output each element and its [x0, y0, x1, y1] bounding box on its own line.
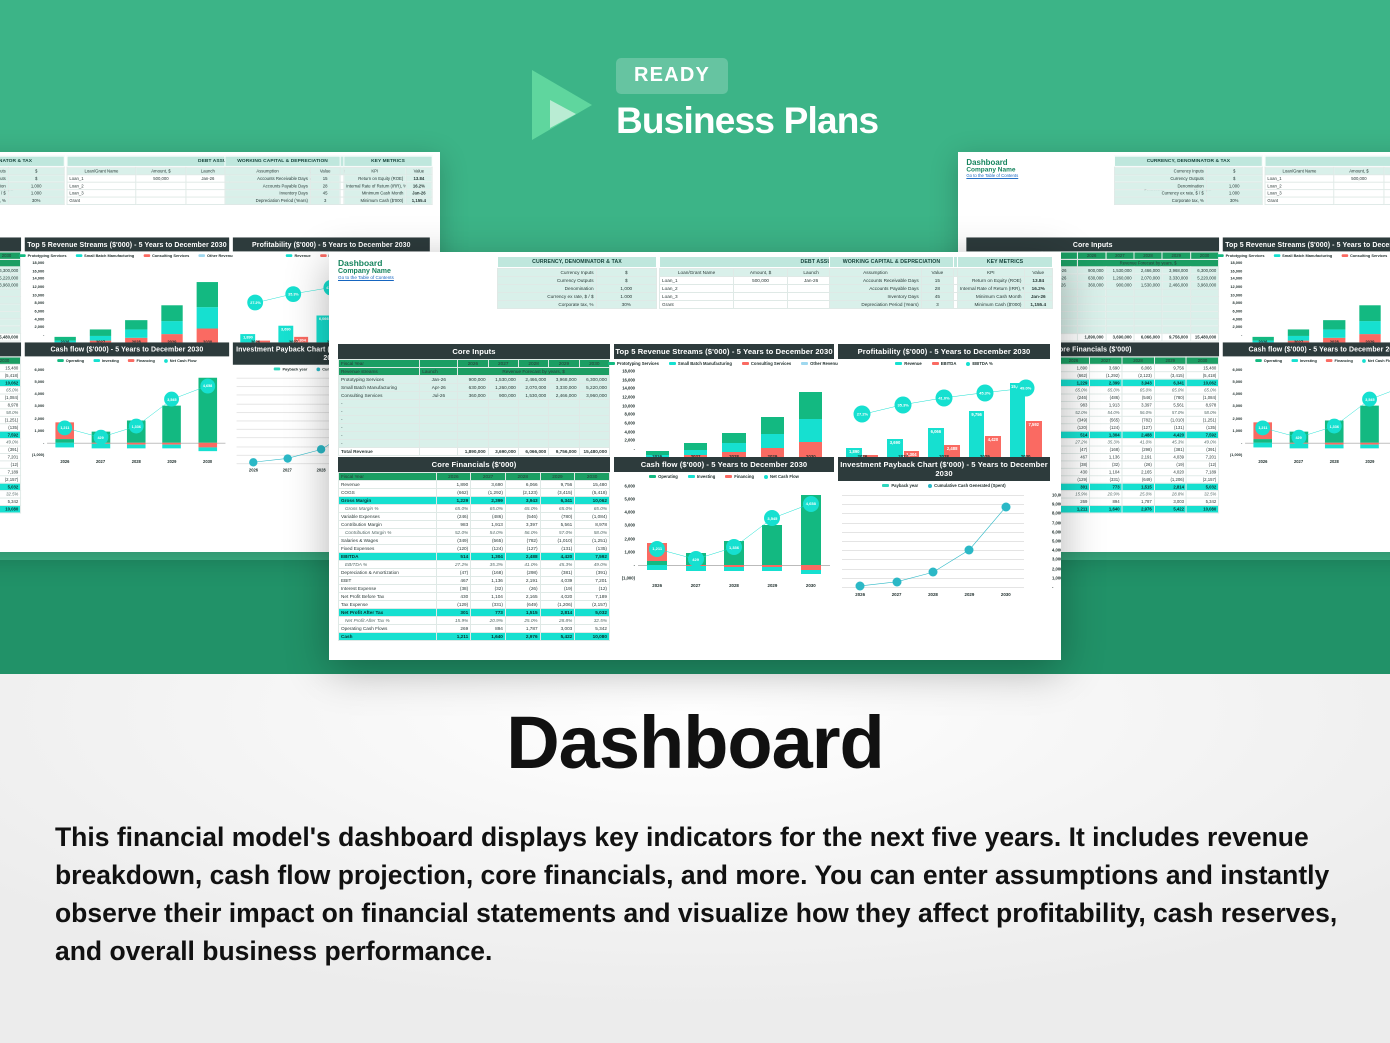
core-financials-row: Gross Margin1,2292,3993,9436,34110,062 [339, 497, 610, 505]
km-header-row: KPIValue [958, 269, 1053, 277]
core-financials-row: Fixed Expenses(120)(124)(127)(131)(135) [0, 424, 21, 431]
sheet-title: Dashboard [966, 158, 1018, 167]
launch-label: Launch [420, 368, 458, 376]
stream-value [0, 311, 21, 318]
x-tick-label: 2027 [892, 592, 902, 597]
financial-row-label: EBITDA % [339, 561, 437, 569]
wc-row: Inventory Days45 [830, 293, 954, 301]
financial-row-label: Net Profit Before Tax [339, 593, 437, 601]
stream-name: - [339, 432, 420, 440]
legend-label: Investing [102, 358, 119, 363]
y-tick: 5,000 [1233, 379, 1243, 384]
cash-flow-panel: Cash flow ($'000) - 5 Years to December … [1223, 342, 1390, 475]
stream-value [579, 400, 609, 408]
core-financials-row: Net Profit After Tax3017731,5152,8145,03… [339, 609, 610, 617]
stream-value: 5,220,000 [579, 384, 609, 392]
core-financials-row: Depreciation & Amortization(47)(168)(298… [339, 569, 610, 577]
core-inputs-row: Consulting ServicesJul-26360,000900,0001… [0, 282, 21, 289]
financial-row-value: (5,418) [575, 489, 610, 497]
financial-row-value: 3,003 [1154, 498, 1186, 505]
financial-row-value: 430 [1057, 468, 1089, 475]
financial-row-value: 8,978 [0, 401, 21, 408]
core-financials-row: Depreciation & Amortization(47)(168)(298… [0, 446, 21, 453]
financial-row-label: Net Profit After Tax [339, 609, 437, 617]
legend-swatch [76, 254, 83, 257]
stream-value: 1,260,000 [488, 384, 518, 392]
currency-row: Denomination1,000 [1115, 182, 1263, 189]
financial-row-value: (120) [436, 545, 471, 553]
financial-row-value: (19) [540, 585, 575, 593]
financial-row-value: 7,201 [575, 577, 610, 585]
core-financials-row: Salaries & Wages(349)(565)(782)(1,010)(1… [0, 416, 21, 423]
legend-item: Investing [1291, 358, 1316, 363]
stream-value [1134, 319, 1162, 326]
financial-row-value: 10,062 [575, 497, 610, 505]
y-tick: 14,000 [622, 386, 635, 391]
financial-row-value: 3,943 [505, 497, 540, 505]
stacked-bar [799, 392, 822, 459]
legend-swatch [144, 254, 151, 257]
year-header: 2027 [1106, 252, 1134, 259]
legend-swatch [320, 254, 327, 257]
financial-row-value: (26) [505, 585, 540, 593]
year-header: 2030 [0, 252, 21, 259]
currency-row-value: 30% [1206, 197, 1262, 204]
y-tick: (1,000) [622, 576, 635, 581]
ebitda-percent-line [842, 367, 1046, 459]
financial-row-value: 6,066 [1122, 364, 1154, 371]
wc-row: Accounts Receivable Days15 [830, 277, 954, 285]
net-cash-flow-bubble: 4,658 [803, 496, 819, 512]
financial-row-label: Contribution Margin [339, 521, 437, 529]
currency-row: Currency Outputs$ [498, 277, 657, 285]
stream-value [458, 416, 488, 424]
debt-col-header: Loan/Grant Name [67, 167, 136, 174]
stream-launch [420, 440, 458, 448]
financial-row-value: 3,690 [471, 481, 506, 489]
financial-row-value: (2,123) [505, 489, 540, 497]
data-table: Fiscal Year20262027202820292030Revenue s… [0, 251, 21, 341]
y-tick: - [43, 333, 44, 338]
km-row: Internal Rate of Return (IRR), %16.2% [344, 182, 432, 189]
financial-row-value: (1,084) [1186, 394, 1218, 401]
x-tick-label: 2026 [60, 459, 69, 464]
core-financials-row: Cash1,2111,6402,9765,42210,080 [0, 505, 21, 512]
stream-launch [420, 400, 458, 408]
financial-row-value: 20.9% [1090, 491, 1122, 498]
stream-value: 900,000 [1078, 267, 1106, 274]
wc-row: Inventory Days45 [225, 190, 340, 197]
y-tick: 16,000 [32, 268, 44, 273]
stream-value [1106, 311, 1134, 318]
debt-row: Grant [1265, 197, 1390, 204]
y-tick: 12,000 [32, 284, 44, 289]
debt-panel-title: DEBT ASSUMPTIONS [1265, 156, 1390, 167]
financial-row-value: 10,080 [575, 633, 610, 641]
debt-cell: Loan_1 [67, 175, 136, 182]
legend-item: Consulting Services [742, 361, 791, 366]
table-cell [420, 360, 458, 368]
financial-row-value: (120) [1057, 424, 1089, 431]
financial-row-value: 65.0% [0, 387, 21, 394]
stream-value: 360,000 [458, 392, 488, 400]
year-header: 2026 [1078, 252, 1106, 259]
data-table: Currency Inputs$Currency Outputs$Denomin… [0, 167, 65, 205]
plot-area: 1,8905143,6901,3046,0662,4889,7564,42015… [842, 367, 1046, 469]
core-financials-row: Interest Expense(38)(32)(26)(19)(12) [339, 585, 610, 593]
bar-segment [197, 282, 218, 307]
core-inputs-total-row: Total Revenue1,890,0003,690,0006,066,000… [0, 334, 21, 341]
net-cash-flow-bubble: 1,336 [129, 419, 144, 434]
investment-payback-legend: Payback yearCumulative Cash Generated (S… [838, 481, 1050, 489]
financial-row-value: 301 [1057, 483, 1089, 490]
x-tick-label: 2029 [768, 583, 778, 588]
revenue-streams-legend: Prototyping ServicesSmall Batch Manufact… [614, 359, 834, 367]
stream-value [458, 440, 488, 448]
financial-row-value: 5,032 [0, 483, 21, 490]
key-metrics-title: KEY METRICS [957, 256, 1053, 268]
legend-swatch [764, 475, 768, 479]
financial-row-value: 27.2% [1057, 439, 1089, 446]
y-tick: - [634, 562, 635, 567]
core-financials-row: COGS(662)(1,292)(2,123)(3,415)(5,418) [339, 489, 610, 497]
financial-row-value: 1,211 [1057, 505, 1089, 512]
stream-value [488, 408, 518, 416]
legend-swatch [649, 475, 656, 478]
financial-row-value: (124) [471, 545, 506, 553]
financial-row-value: 41.0% [505, 561, 540, 569]
play-triangle-logo-icon [528, 66, 598, 144]
net-cash-flow-bubble: 1,211 [649, 541, 665, 557]
financial-row-value: 28.8% [1154, 491, 1186, 498]
toc-link[interactable]: Go to the Table of Contents [338, 275, 394, 280]
y-tick: - [1052, 585, 1053, 590]
year-header: 2029 [1154, 357, 1186, 364]
financial-row-value: 54.0% [471, 529, 506, 537]
y-axis: -2,0004,0006,0008,00010,00012,00014,0001… [614, 367, 636, 469]
x-tick-label: 2030 [203, 459, 212, 464]
financial-row-value: (1,084) [0, 394, 21, 401]
core-financials-row: Gross Margin %65.0%65.0%65.0%65.0%65.0% [339, 505, 610, 513]
x-tick-label: 2027 [96, 459, 105, 464]
y-tick: 6,000 [625, 421, 635, 426]
financial-row-value: (662) [1057, 372, 1089, 379]
legend-label: Consulting Services [1350, 253, 1387, 258]
stream-value: 1,530,000 [488, 376, 518, 384]
financial-row-value: 54.0% [1090, 409, 1122, 416]
core-financials-row: EBIT4671,1362,1914,0397,201 [339, 577, 610, 585]
financial-row-value: (780) [540, 513, 575, 521]
legend-label: Operating [658, 474, 678, 479]
data-point-marker [856, 581, 865, 590]
y-tick: 14,000 [32, 276, 44, 281]
bar-segment [1324, 320, 1345, 330]
financial-row-value: 5,342 [575, 625, 610, 633]
core-financials-row: Gross Margin %65.0%65.0%65.0%65.0%65.0% [0, 387, 21, 394]
financial-row-value: (246) [1057, 394, 1089, 401]
currency-row: Currency Outputs$ [1115, 175, 1263, 182]
data-table: Loan/Grant NameAmount, $LaunchTerm, Mont… [1265, 167, 1390, 205]
revenue-streams-panel: Top 5 Revenue Streams ($'000) - 5 Years … [1223, 237, 1390, 353]
y-tick: 8,000 [1233, 300, 1243, 305]
x-tick-label: 2028 [729, 583, 739, 588]
legend-swatch [742, 362, 749, 365]
stream-value: 3,968,000 [1162, 267, 1190, 274]
km-row: Return on Equity (ROE)13.84 [344, 175, 432, 182]
stacked-bar [197, 282, 218, 344]
legend-swatch [1291, 359, 1298, 362]
financial-row-value: 894 [471, 625, 506, 633]
km-kpi-label: Minimum Cash ($'000) [958, 301, 1025, 309]
core-financials-year-row: Fiscal Year20262027202820292030 [339, 473, 610, 481]
financial-row-value: 3,690 [1090, 364, 1122, 371]
km-row: Minimum Cash ($'000)1,155.4 [344, 197, 432, 204]
investment-payback-plot: 20262027202820292030-1,0002,0003,0004,00… [838, 489, 1050, 609]
y-tick: - [1241, 333, 1242, 338]
legend-swatch [966, 362, 970, 366]
debt-cell [136, 190, 186, 197]
net-cash-flow-bubble: 1,336 [1327, 419, 1342, 434]
currency-row-label: Currency Inputs [0, 167, 8, 174]
core-financials-row: EBIT4671,1362,1914,0397,201 [0, 453, 21, 460]
revenue-streams-legend: Prototyping ServicesSmall Batch Manufact… [1223, 251, 1390, 258]
stream-value: 2,466,000 [518, 376, 548, 384]
currency-row-value: 1,000 [8, 182, 64, 189]
financial-row-value: (649) [505, 601, 540, 609]
forecast-label: Revenue Forecast by years, $ [1078, 259, 1219, 266]
km-row: Minimum Cash ($'000)1,155.4 [958, 301, 1053, 309]
stream-value [458, 408, 488, 416]
km-col-header: KPI [344, 167, 406, 174]
stream-value [488, 416, 518, 424]
core-inputs-year-row: Fiscal Year20262027202820292030 [339, 360, 610, 368]
core-financials-row: EBITDA5141,3042,4884,4207,592 [339, 553, 610, 561]
financial-row-value: 269 [1057, 498, 1089, 505]
debt-cell [136, 182, 186, 189]
stream-value: 2,466,000 [1134, 267, 1162, 274]
key-metrics-panel: KEY METRICSKPIValueReturn on Equity (ROE… [343, 156, 432, 205]
y-axis: (1,000)-1,0002,0003,0004,0005,0006,000 [25, 364, 45, 475]
cash-flow-plot: (1,000)-1,0002,0003,0004,0005,0006,0001,… [25, 364, 229, 475]
debt-cell [734, 293, 788, 301]
legend-item: Small Batch Manufacturing [1274, 253, 1333, 258]
stream-value [0, 304, 21, 311]
legend-label: EBITDA % [972, 361, 992, 366]
toc-link[interactable]: Go to the Table of Contents [966, 173, 1018, 178]
financial-row-value: (649) [1122, 476, 1154, 483]
financial-row-value: (1,206) [540, 601, 575, 609]
core-inputs-row: - [339, 432, 610, 440]
financial-row-label: Cash [339, 633, 437, 641]
financial-row-value: 7,592 [1186, 431, 1218, 438]
stream-value [488, 400, 518, 408]
data-point-marker [249, 458, 257, 466]
legend-swatch [1217, 254, 1224, 257]
financial-row-value: 894 [1090, 498, 1122, 505]
core-inputs-row: Small Batch ManufacturingApr-26630,0001,… [339, 384, 610, 392]
financial-row-value: (391) [575, 569, 610, 577]
currency-row-label: Corporate tax, % [498, 301, 597, 309]
cash-flow-title: Cash flow ($'000) - 5 Years to December … [1223, 342, 1390, 356]
km-row: Minimum Cash MonthJan-26 [344, 190, 432, 197]
legend-swatch [669, 362, 676, 365]
currency-row-label: Currency Outputs [1115, 175, 1207, 182]
financial-row-value: 983 [1057, 401, 1089, 408]
y-tick: 7,000 [1052, 520, 1061, 525]
y-tick: 4,000 [625, 429, 635, 434]
financial-row-value: 1,304 [1090, 431, 1122, 438]
wc-row: Accounts Payable Days28 [225, 182, 340, 189]
legend-item: Financing [128, 358, 155, 363]
financial-row-value: 4,420 [1154, 431, 1186, 438]
stream-value: 3,330,000 [1162, 274, 1190, 281]
stacked-bar [761, 417, 784, 459]
debt-col-header: Launch [186, 167, 230, 174]
financial-row-value: (486) [1090, 394, 1122, 401]
currency-row: Corporate tax, %30% [498, 301, 657, 309]
core-financials-title: Core Financials ($'000) [338, 457, 610, 472]
stream-launch [420, 424, 458, 432]
sheet-title: Dashboard [338, 258, 394, 268]
legend-swatch [1362, 359, 1366, 363]
core-financials-row: Operating Cash Flows2698941,7873,0035,34… [339, 625, 610, 633]
stream-value [1078, 326, 1106, 333]
legend-label: Payback year [282, 367, 307, 372]
stream-value [1106, 296, 1134, 303]
km-row: Return on Equity (ROE)13.84 [958, 277, 1053, 285]
stream-value [1078, 311, 1106, 318]
cash-flow-plot: (1,000)-1,0002,0003,0004,0005,0006,0001,… [1223, 364, 1390, 475]
financial-row-value: 35.3% [471, 561, 506, 569]
currency-row-label: Currency Outputs [498, 277, 597, 285]
stream-value: 900,000 [1106, 282, 1134, 289]
km-kpi-label: Internal Rate of Return (IRR), % [344, 182, 406, 189]
y-tick: 2,000 [35, 325, 45, 330]
legend-label: EBITDA [941, 361, 957, 366]
financial-row-value: 2,976 [505, 633, 540, 641]
total-value: 1,890,000 [458, 448, 488, 456]
bar-segment [1359, 321, 1380, 334]
core-financials-row: Revenue1,8903,6906,0669,75615,480 [0, 364, 21, 371]
financial-row-value: (331) [471, 601, 506, 609]
financial-row-value: (298) [1122, 446, 1154, 453]
debt-cell: Loan_2 [1265, 182, 1334, 189]
core-inputs-row: - [0, 296, 21, 303]
financial-row-value: 4,020 [540, 593, 575, 601]
x-tick-label: 2027 [1294, 459, 1303, 464]
currency-row-value: $ [8, 167, 64, 174]
stream-value [1078, 319, 1106, 326]
legend-swatch [932, 362, 939, 365]
currency-row-label: Currency Inputs [498, 269, 597, 277]
financial-row-value: 9,756 [540, 481, 575, 489]
net-cash-flow-line [638, 480, 830, 590]
financial-row-label: COGS [339, 489, 437, 497]
debt-cell [1334, 197, 1384, 204]
stream-value [1134, 296, 1162, 303]
year-header: 2030 [1190, 252, 1218, 259]
financial-row-value: (129) [1057, 476, 1089, 483]
core-inputs-row: Prototyping ServicesJan-26900,0001,530,0… [0, 267, 21, 274]
stream-launch: Apr-26 [420, 384, 458, 392]
core-financials-row: Revenue1,8903,6906,0669,75615,480 [339, 481, 610, 489]
stream-launch [420, 416, 458, 424]
bar-segment [161, 321, 182, 334]
y-tick: 2,000 [625, 438, 635, 443]
financial-row-value: 45.3% [1154, 439, 1186, 446]
financial-row-value: 2,976 [1122, 505, 1154, 512]
stream-name: Prototyping Services [339, 376, 420, 384]
legend-item: Revenue [286, 253, 311, 258]
currency-row: Currency Inputs$ [0, 167, 64, 174]
core-inputs-row: - [339, 400, 610, 408]
wc-row: Depreciation Period (Years)3 [830, 301, 954, 309]
financial-row-value: 65.0% [1090, 387, 1122, 394]
currency-panel-title: CURRENCY, DENOMINATOR & TAX [497, 256, 657, 268]
stream-value [549, 424, 579, 432]
wc-label: Accounts Payable Days [830, 285, 922, 293]
debt-col-header: Launch [1384, 167, 1390, 174]
bar-segment [684, 443, 707, 450]
dashboard-screenshot-main[interactable]: DashboardCompany NameGo to the Table of … [329, 252, 1061, 660]
core-inputs-title: Core Inputs [966, 237, 1219, 251]
financial-row-value: 7,189 [0, 468, 21, 475]
financial-row-value: 56.0% [505, 529, 540, 537]
financial-row-value: (246) [436, 513, 471, 521]
stream-value [518, 416, 548, 424]
financial-row-value: 301 [436, 609, 471, 617]
financial-row-value: (129) [436, 601, 471, 609]
revenue-streams-title: Top 5 Revenue Streams ($'000) - 5 Years … [25, 237, 229, 251]
stream-value [488, 440, 518, 448]
debt-col-header: Launch [788, 269, 835, 277]
core-financials-row: Net Profit After Tax %15.9%20.9%25.0%28.… [0, 491, 21, 498]
table-cell [420, 448, 458, 456]
legend-label: Consulting Services [152, 253, 189, 258]
stream-name: - [339, 408, 420, 416]
financial-row-value: 10,080 [1186, 505, 1218, 512]
legend-swatch [57, 359, 64, 362]
x-tick-label: 2029 [167, 459, 176, 464]
cash-flow-legend: OperatingInvestingFinancingNet Cash Flow [1223, 356, 1390, 363]
debt-cell: Loan_2 [67, 182, 136, 189]
data-point-marker [317, 445, 325, 453]
y-tick: 16,000 [1230, 268, 1242, 273]
currency-row-value: 1,000 [596, 285, 656, 293]
km-kpi-value: Jan-26 [1024, 293, 1053, 301]
ebitda-percent-bubble: 45.3% [976, 384, 993, 401]
y-tick: 3,000 [1233, 404, 1243, 409]
stream-name: - [339, 440, 420, 448]
financial-row-value: 8,978 [1186, 401, 1218, 408]
stream-value [1190, 326, 1218, 333]
wc-value: 28 [921, 285, 953, 293]
debt-col-header: Amount, $ [734, 269, 788, 277]
year-header: 2026 [458, 360, 488, 368]
stream-name: - [339, 424, 420, 432]
stream-value: 3,960,000 [1190, 282, 1218, 289]
stacked-bar [1359, 305, 1380, 344]
x-tick-label: 2029 [1365, 459, 1374, 464]
y-tick: 3,000 [625, 523, 635, 528]
y-tick: 3,000 [35, 404, 45, 409]
stream-launch [420, 432, 458, 440]
financial-row-value: 983 [436, 521, 471, 529]
ebitda-percent-bubble: 27.2% [248, 295, 264, 311]
debt-row: Loan_2 [1265, 182, 1390, 189]
financial-row-label: Salaries & Wages [339, 537, 437, 545]
y-axis: -2,0004,0006,0008,00010,00012,00014,0001… [1223, 259, 1243, 354]
